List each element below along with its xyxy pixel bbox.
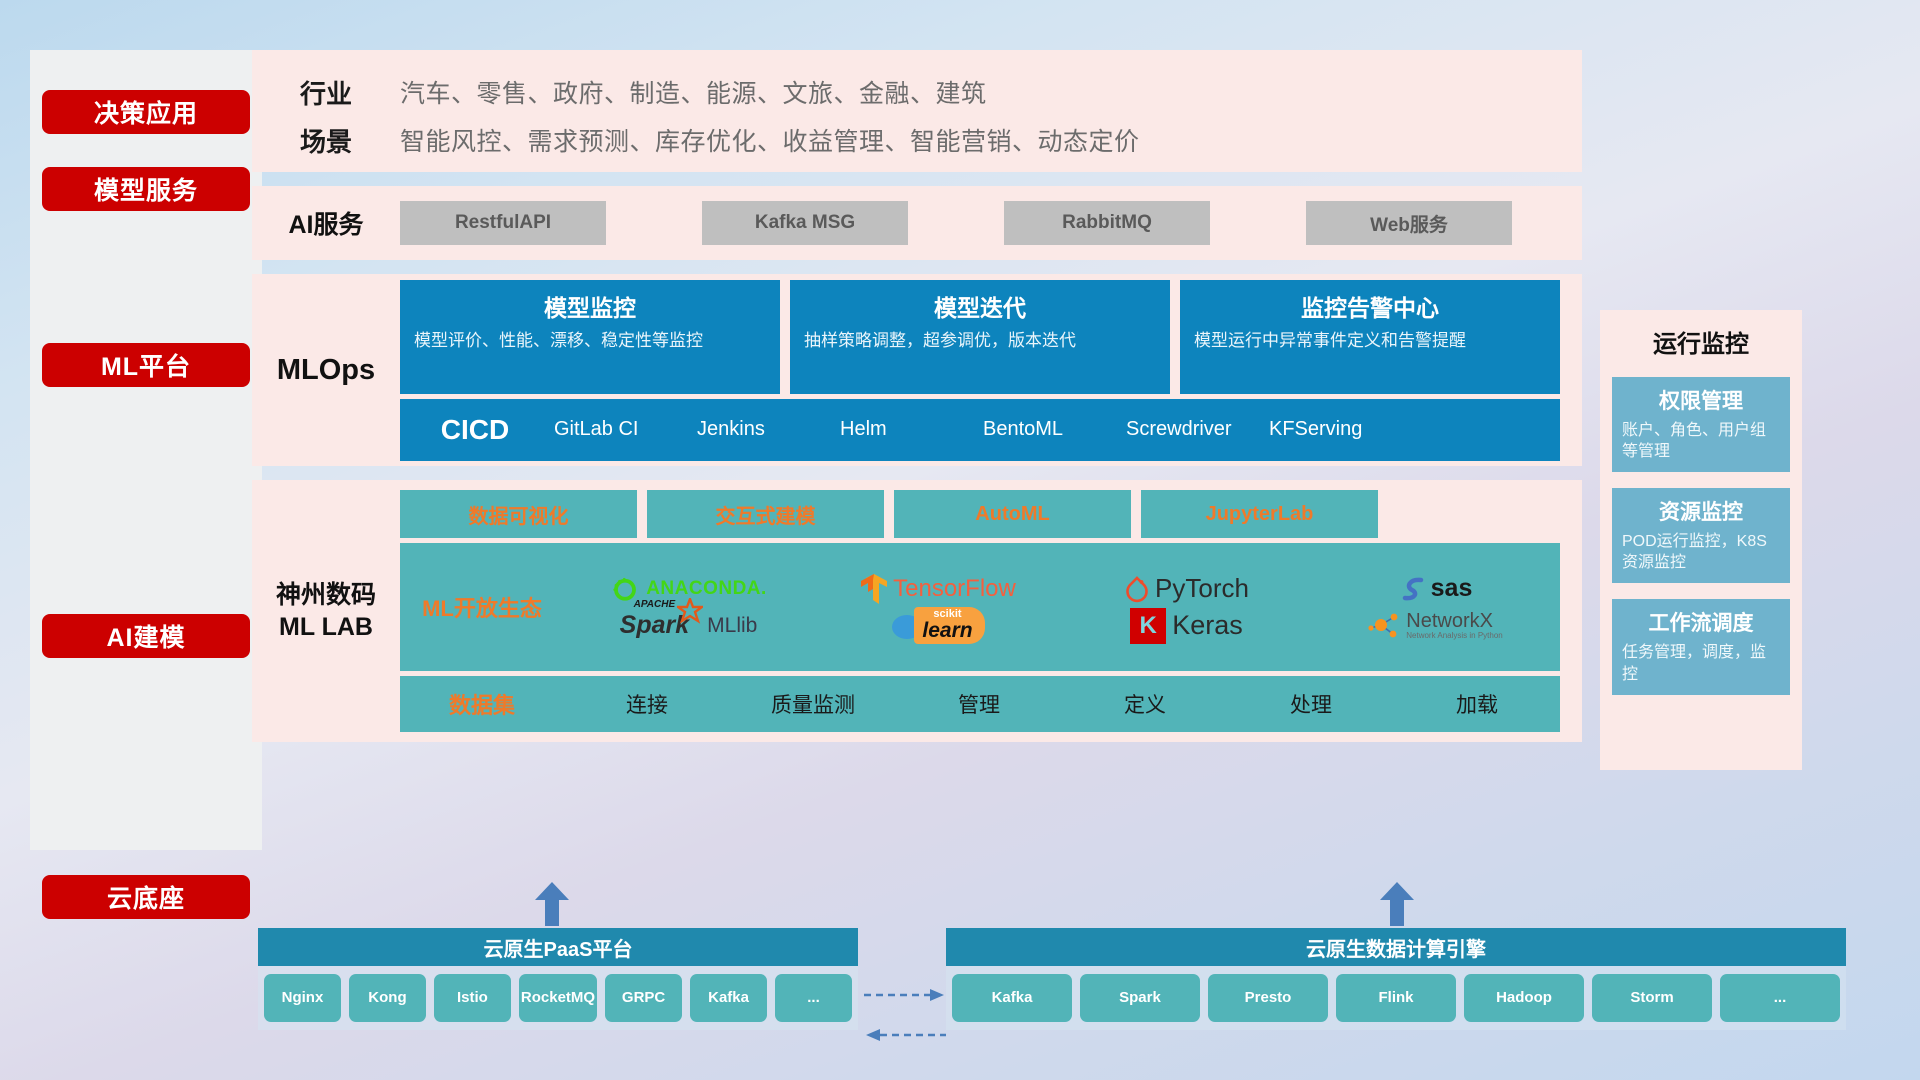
sas-wordmark: sas	[1431, 574, 1473, 603]
layer-chip-decision[interactable]: 决策应用	[42, 90, 250, 134]
pytorch-wordmark: PyTorch	[1155, 573, 1249, 604]
dce-chip-flink[interactable]: Flink	[1336, 974, 1456, 1022]
networkx-wordmark: NetworkX	[1406, 611, 1503, 631]
layer-chip-cloud-base[interactable]: 云底座	[42, 875, 250, 919]
dataset-item-management[interactable]: 管理	[896, 689, 1062, 719]
ai-service-label: AI服务	[252, 205, 400, 241]
data-compute-engine-block: 云原生数据计算引擎 Kafka Spark Presto Flink Hadoo…	[946, 928, 1846, 1030]
mlops-card-model-monitoring[interactable]: 模型监控 模型评价、性能、漂移、稳定性等监控	[400, 280, 780, 394]
dataset-item-quality-monitoring[interactable]: 质量监测	[730, 689, 896, 719]
monitor-card-title: 资源监控	[1622, 496, 1780, 526]
keras-wordmark: Keras	[1172, 610, 1243, 641]
dce-chip-hadoop[interactable]: Hadoop	[1464, 974, 1584, 1022]
pytorch-logo: PyTorch	[1124, 573, 1249, 604]
runtime-monitor-title: 运行监控	[1612, 324, 1790, 359]
ml-ecosystem-row: ML开放生态 ANACONDA.	[400, 543, 1560, 671]
mlops-card-desc: 抽样策略调整，超参调优，版本迭代	[804, 330, 1156, 352]
arrow-up-paas-icon	[535, 882, 569, 926]
spark-star-icon	[677, 598, 703, 624]
paas-chip-grpc[interactable]: GRPC	[605, 974, 682, 1022]
modeling-tab-list: 数据可视化 交互式建模 AutoML JupyterLab	[400, 490, 1560, 538]
service-chip-kafka-msg[interactable]: Kafka MSG	[702, 201, 908, 245]
cicd-bar: CICD GitLab CI Jenkins Helm BentoML Scre…	[400, 399, 1560, 461]
dce-chip-spark[interactable]: Spark	[1080, 974, 1200, 1022]
architecture-stack: 行业 汽车、零售、政府、制造、能源、文旅、金融、建筑 场景 智能风控、需求预测、…	[252, 50, 1882, 742]
tab-automl[interactable]: AutoML	[894, 490, 1131, 538]
industry-values: 汽车、零售、政府、制造、能源、文旅、金融、建筑	[400, 74, 987, 110]
ml-lab-label: 神州数码 ML LAB	[252, 579, 400, 643]
mlops-card-desc: 模型评价、性能、漂移、稳定性等监控	[414, 330, 766, 352]
mlops-card-desc: 模型运行中异常事件定义和告警提醒	[1194, 330, 1546, 352]
industry-label: 行业	[252, 74, 400, 111]
networkx-tagline: Network Analysis in Python	[1406, 631, 1503, 640]
dce-chip-more[interactable]: ...	[1720, 974, 1840, 1022]
mlops-content: 模型监控 模型评价、性能、漂移、稳定性等监控 模型迭代 抽样策略调整，超参调优，…	[400, 280, 1560, 461]
mlops-card-list: 模型监控 模型评价、性能、漂移、稳定性等监控 模型迭代 抽样策略调整，超参调优，…	[400, 280, 1560, 394]
mlops-label: MLOps	[252, 354, 400, 387]
data-compute-engine-title: 云原生数据计算引擎	[946, 928, 1846, 966]
runtime-monitor-panel: 运行监控 权限管理 账户、角色、用户组等管理 资源监控 POD运行监控，K8S资…	[1600, 310, 1802, 770]
keras-mark-icon: K	[1130, 608, 1166, 644]
sas-swirl-icon	[1399, 574, 1429, 604]
dataset-bar: 数据集 连接 质量监测 管理 定义 处理 加载	[400, 676, 1560, 732]
mlops-band: MLOps 模型监控 模型评价、性能、漂移、稳定性等监控 模型迭代 抽样策略调整…	[252, 274, 1582, 466]
ml-lab-label-line2: ML LAB	[252, 611, 400, 643]
monitor-card-desc: POD运行监控，K8S资源监控	[1622, 531, 1780, 573]
networkx-logo: NetworkX Network Analysis in Python	[1368, 610, 1503, 642]
cloud-foundation: 云原生PaaS平台 Nginx Kong Istio RocketMQ GRPC…	[252, 900, 1892, 1050]
dataset-item-processing[interactable]: 处理	[1228, 689, 1394, 719]
service-chip-web[interactable]: Web服务	[1306, 201, 1512, 245]
monitor-card-desc: 任务管理，调度，监控	[1622, 642, 1780, 684]
layer-rail: 决策应用 模型服务 ML平台 AI建模	[30, 50, 262, 850]
ml-lab-label-line1: 神州数码	[252, 579, 400, 611]
dce-chip-presto[interactable]: Presto	[1208, 974, 1328, 1022]
paas-chip-kong[interactable]: Kong	[349, 974, 426, 1022]
layer-chip-ai-modeling[interactable]: AI建模	[42, 614, 250, 658]
monitor-card-permission[interactable]: 权限管理 账户、角色、用户组等管理	[1612, 377, 1790, 472]
dataset-item-connect[interactable]: 连接	[564, 689, 730, 719]
scenario-row: 场景 智能风控、需求预测、库存优化、收益管理、智能营销、动态定价	[252, 116, 1582, 164]
mlops-card-title: 模型监控	[414, 289, 766, 323]
networkx-graph-icon	[1368, 610, 1402, 642]
dataset-item-definition[interactable]: 定义	[1062, 689, 1228, 719]
ml-ecosystem-logo-grid: ANACONDA. TensorFlow	[564, 570, 1560, 644]
tensorflow-mark-icon	[859, 572, 889, 606]
cicd-item-gitlab-ci[interactable]: GitLab CI	[550, 419, 693, 440]
cicd-item-helm[interactable]: Helm	[836, 419, 979, 440]
service-chip-rabbitmq[interactable]: RabbitMQ	[1004, 201, 1210, 245]
monitor-card-desc: 账户、角色、用户组等管理	[1622, 420, 1780, 462]
arrow-left-dashed-icon	[864, 1028, 946, 1042]
layer-chip-model-service[interactable]: 模型服务	[42, 167, 250, 211]
decision-band: 行业 汽车、零售、政府、制造、能源、文旅、金融、建筑 场景 智能风控、需求预测、…	[252, 50, 1582, 172]
dataset-item-loading[interactable]: 加载	[1394, 689, 1560, 719]
cicd-item-kfserving[interactable]: KFServing	[1265, 419, 1408, 440]
dce-chip-list: Kafka Spark Presto Flink Hadoop Storm ..…	[946, 966, 1846, 1030]
cicd-item-jenkins[interactable]: Jenkins	[693, 419, 836, 440]
tensorflow-logo: TensorFlow	[859, 572, 1016, 606]
dce-chip-kafka[interactable]: Kafka	[952, 974, 1072, 1022]
cicd-item-bentoml[interactable]: BentoML	[979, 419, 1122, 440]
cicd-item-screwdriver[interactable]: Screwdriver	[1122, 419, 1265, 440]
scenario-values: 智能风控、需求预测、库存优化、收益管理、智能营销、动态定价	[400, 122, 1140, 158]
tensorflow-wordmark: TensorFlow	[893, 575, 1016, 603]
paas-chip-more[interactable]: ...	[775, 974, 852, 1022]
paas-chip-list: Nginx Kong Istio RocketMQ GRPC Kafka ...	[258, 966, 858, 1030]
tab-data-visualization[interactable]: 数据可视化	[400, 490, 637, 538]
mlops-card-alert-center[interactable]: 监控告警中心 模型运行中异常事件定义和告警提醒	[1180, 280, 1560, 394]
sas-logo: sas	[1399, 574, 1473, 604]
learn-text: learn	[922, 620, 972, 641]
industry-row: 行业 汽车、零售、政府、制造、能源、文旅、金融、建筑	[252, 68, 1582, 116]
pytorch-flame-icon	[1124, 574, 1150, 604]
paas-chip-nginx[interactable]: Nginx	[264, 974, 341, 1022]
service-chip-restfulapi[interactable]: RestfulAPI	[400, 201, 606, 245]
scikit-learn-logo: scikit learn	[890, 607, 984, 644]
arrow-up-dce-icon	[1380, 882, 1414, 926]
paas-chip-istio[interactable]: Istio	[434, 974, 511, 1022]
ml-ecosystem-label: ML开放生态	[400, 591, 564, 623]
monitor-card-title: 权限管理	[1622, 385, 1780, 415]
layer-chip-ml-platform[interactable]: ML平台	[42, 343, 250, 387]
mlops-card-model-iteration[interactable]: 模型迭代 抽样策略调整，超参调优，版本迭代	[790, 280, 1170, 394]
paas-platform-block: 云原生PaaS平台 Nginx Kong Istio RocketMQ GRPC…	[258, 928, 858, 1030]
arrow-right-dashed-icon	[864, 988, 946, 1002]
modeling-band: 神州数码 ML LAB 数据可视化 交互式建模 AutoML JupyterLa…	[252, 480, 1582, 742]
modeling-content: 数据可视化 交互式建模 AutoML JupyterLab ML开放生态 A	[400, 490, 1560, 732]
monitor-card-resource[interactable]: 资源监控 POD运行监控，K8S资源监控	[1612, 488, 1790, 583]
dataset-label: 数据集	[400, 688, 564, 720]
anaconda-wordmark: ANACONDA.	[646, 578, 767, 600]
keras-logo: K Keras	[1130, 608, 1243, 644]
spark-apache-text: APACHE	[634, 599, 675, 610]
spark-mllib-logo: APACHE Spark MLlib	[620, 611, 758, 640]
monitor-card-workflow[interactable]: 工作流调度 任务管理，调度，监控	[1612, 599, 1790, 694]
ai-service-chip-list: RestfulAPI Kafka MSG RabbitMQ Web服务	[400, 201, 1512, 245]
service-band: AI服务 RestfulAPI Kafka MSG RabbitMQ Web服务	[252, 186, 1582, 260]
mlops-card-title: 模型迭代	[804, 289, 1156, 323]
dce-chip-storm[interactable]: Storm	[1592, 974, 1712, 1022]
mlops-card-title: 监控告警中心	[1194, 289, 1546, 323]
scenario-label: 场景	[252, 122, 400, 159]
cicd-label: CICD	[400, 414, 550, 446]
tab-interactive-modeling[interactable]: 交互式建模	[647, 490, 884, 538]
paas-chip-rocketmq[interactable]: RocketMQ	[519, 974, 597, 1022]
tab-jupyterlab[interactable]: JupyterLab	[1141, 490, 1378, 538]
paas-platform-title: 云原生PaaS平台	[258, 928, 858, 966]
monitor-card-title: 工作流调度	[1622, 607, 1780, 637]
mllib-wordmark: MLlib	[707, 614, 757, 638]
paas-chip-kafka[interactable]: Kafka	[690, 974, 767, 1022]
